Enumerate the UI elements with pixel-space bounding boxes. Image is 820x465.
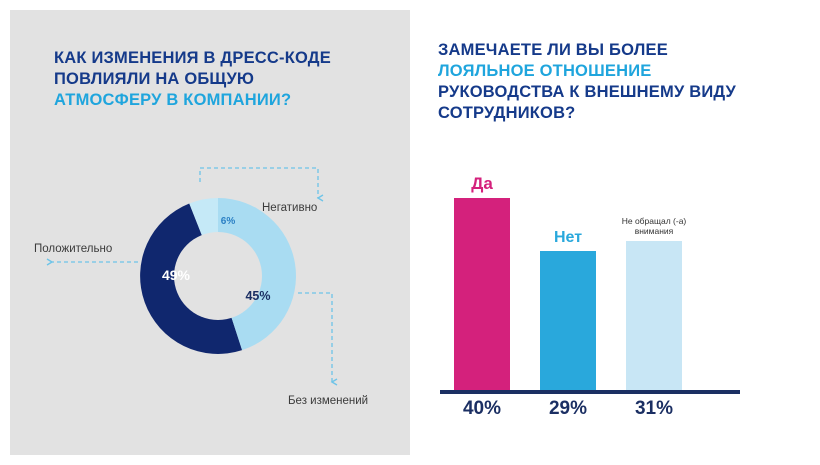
bar-label-no: Нет <box>554 229 582 247</box>
donut-value-no-change: 45% <box>245 289 270 303</box>
bar-value-yes: 40% <box>463 398 501 420</box>
right-title-line-1: ЗАМЕЧАЕТЕ ЛИ ВЫ БОЛЕЕ <box>438 40 793 61</box>
donut-chart: 49% 45% 6% <box>130 188 306 364</box>
left-title-line-1: КАК ИЗМЕНЕНИЯ В ДРЕСС-КОДЕ <box>54 48 374 69</box>
bar-column-not-noticed: Не обращал (-а)внимания 31% <box>626 241 682 390</box>
left-panel-title: КАК ИЗМЕНЕНИЯ В ДРЕСС-КОДЕ ПОВЛИЯЛИ НА О… <box>54 48 374 111</box>
bar-column-no: Нет 29% <box>540 251 596 390</box>
infographic-root: КАК ИЗМЕНЕНИЯ В ДРЕСС-КОДЕ ПОВЛИЯЛИ НА О… <box>0 0 820 465</box>
right-panel-title: ЗАМЕЧАЕТЕ ЛИ ВЫ БОЛЕЕ ЛОЯЛЬНОЕ ОТНОШЕНИЕ… <box>438 40 793 124</box>
bar-rect-not-noticed <box>626 241 682 390</box>
bar-label-not-noticed: Не обращал (-а)внимания <box>622 217 687 237</box>
left-title-line-2: ПОВЛИЯЛИ НА ОБЩУЮ <box>54 69 374 90</box>
bar-column-yes: Да 40% <box>454 198 510 390</box>
bar-chart: Да 40% Нет 29% Не обращал (-а)внимания 3… <box>440 180 740 412</box>
bar-chart-baseline <box>440 390 740 394</box>
donut-value-positive: 49% <box>162 267 191 283</box>
left-title-line-3: АТМОСФЕРУ В КОМПАНИИ? <box>54 90 374 111</box>
left-panel: КАК ИЗМЕНЕНИЯ В ДРЕСС-КОДЕ ПОВЛИЯЛИ НА О… <box>10 10 410 455</box>
bar-value-not-noticed: 31% <box>635 398 673 420</box>
donut-label-no-change: Без изменений <box>288 395 368 407</box>
right-title-line-4: СОТРУДНИКОВ? <box>438 103 793 124</box>
bar-rect-no <box>540 251 596 390</box>
bar-label-yes: Да <box>471 174 493 194</box>
right-title-line-3: РУКОВОДСТВА К ВНЕШНЕМУ ВИДУ <box>438 82 793 103</box>
right-title-line-2: ЛОЯЛЬНОЕ ОТНОШЕНИЕ <box>438 61 793 82</box>
donut-label-positive: Положительно <box>34 243 112 255</box>
donut-value-negative: 6% <box>221 216 236 227</box>
donut-label-negative: Негативно <box>262 202 317 214</box>
bar-value-no: 29% <box>549 398 587 420</box>
bar-rect-yes <box>454 198 510 390</box>
